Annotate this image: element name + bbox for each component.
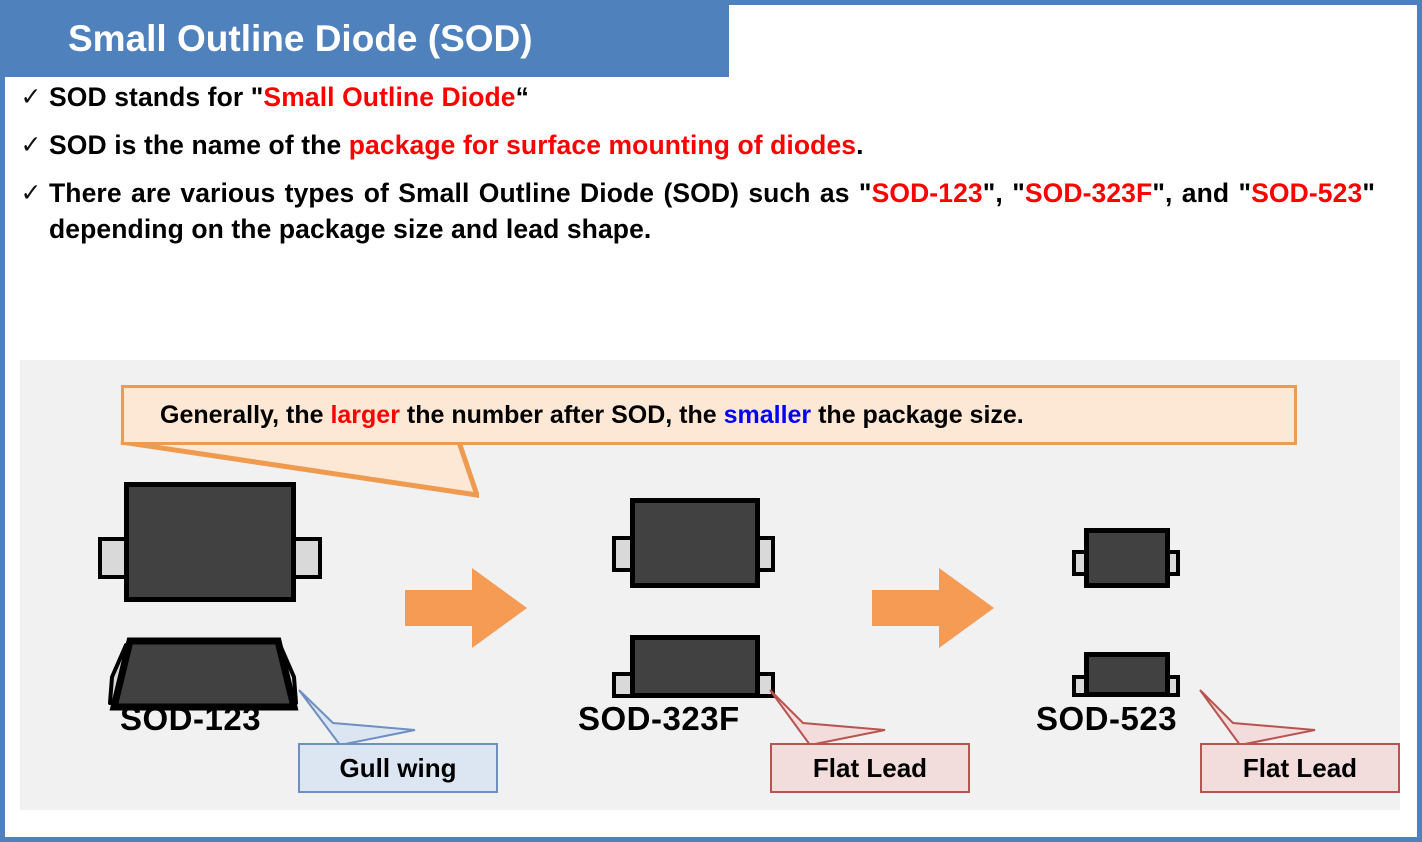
check-icon: ✓ bbox=[13, 127, 49, 163]
callout-span: the number after SOD, the bbox=[400, 401, 724, 429]
bullet-list: ✓ SOD stands for "Small Outline Diode“ ✓… bbox=[13, 79, 1403, 259]
bullet-span: ", " bbox=[983, 178, 1025, 208]
package-body bbox=[630, 498, 760, 588]
bullet-span: ", and " bbox=[1152, 178, 1251, 208]
check-icon: ✓ bbox=[13, 79, 49, 115]
transition-arrow-1-shape bbox=[405, 568, 527, 648]
tag-gull-wing[interactable]: Gull wing bbox=[298, 743, 498, 793]
bullet-span-highlight: SOD-523 bbox=[1251, 178, 1362, 208]
callout-span: Generally, the bbox=[160, 401, 330, 429]
bullet-text-3: There are various types of Small Outline… bbox=[49, 175, 1403, 247]
bullet-text-2: SOD is the name of the package for surfa… bbox=[49, 127, 1403, 163]
package-body bbox=[1084, 528, 1170, 588]
slide-root: Small Outline Diode (SOD) ✓ SOD stands f… bbox=[0, 0, 1422, 842]
callout-span-smaller: smaller bbox=[724, 401, 812, 429]
callout-span-larger: larger bbox=[330, 401, 399, 429]
callout-span: the package size. bbox=[811, 401, 1024, 429]
callout-tail bbox=[119, 440, 479, 525]
tag-flat-lead-1[interactable]: Flat Lead bbox=[770, 743, 970, 793]
bullet-span-highlight: Small Outline Diode bbox=[263, 82, 515, 112]
bullet-span: SOD stands for " bbox=[49, 82, 263, 112]
tag-flat-lead-2[interactable]: Flat Lead bbox=[1200, 743, 1400, 793]
callout-text: Generally, the larger the number after S… bbox=[124, 401, 1024, 430]
callout-box: Generally, the larger the number after S… bbox=[121, 385, 1297, 445]
transition-arrow-2 bbox=[872, 568, 994, 648]
check-icon: ✓ bbox=[13, 175, 49, 211]
bullet-span: There are various types of Small Outline… bbox=[49, 178, 872, 208]
page-title: Small Outline Diode (SOD) bbox=[0, 20, 533, 57]
bullet-text-1: SOD stands for "Small Outline Diode“ bbox=[49, 79, 1403, 115]
bullet-item-3: ✓ There are various types of Small Outli… bbox=[13, 175, 1403, 247]
bullet-span-highlight: package for surface mounting of diodes bbox=[349, 130, 856, 160]
bullet-span: SOD is the name of the bbox=[49, 130, 349, 160]
diagram-panel: Generally, the larger the number after S… bbox=[20, 360, 1400, 810]
bullet-item-2: ✓ SOD is the name of the package for sur… bbox=[13, 127, 1403, 163]
bullet-span-highlight: SOD-323F bbox=[1025, 178, 1152, 208]
title-bar: Small Outline Diode (SOD) bbox=[0, 0, 729, 77]
bullet-item-1: ✓ SOD stands for "Small Outline Diode“ bbox=[13, 79, 1403, 115]
bullet-span: . bbox=[856, 130, 863, 160]
bullet-span-highlight: SOD-123 bbox=[872, 178, 983, 208]
bullet-span: “ bbox=[516, 82, 529, 112]
